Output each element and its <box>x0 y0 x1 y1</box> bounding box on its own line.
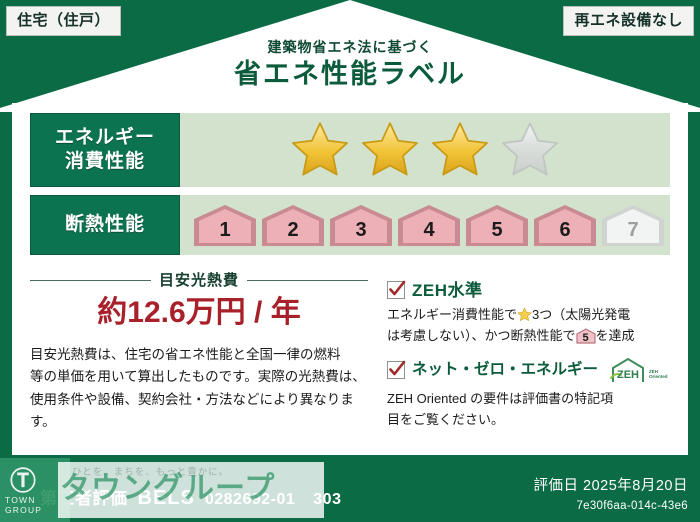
title-subtitle: 建築物省エネ法に基づく <box>0 40 700 54</box>
tag-building-type: 住宅（住戸） <box>6 6 121 36</box>
utility-cost-value: 約12.6万円 / 年 <box>30 298 368 328</box>
checkbox-net-zero-energy[interactable] <box>387 361 405 379</box>
star-filled-icon <box>359 120 421 180</box>
star-rating <box>180 113 670 187</box>
zeh-standard-desc-b: は考慮しない）、かつ断熱性能で <box>387 328 576 343</box>
title-main: 省エネ性能ラベル <box>0 61 700 88</box>
zeh-standard-head: ZEH水準 <box>387 281 677 299</box>
zeh-block: ZEH水準 エネルギー消費性能で3つ（太陽光発電は考慮しない）、かつ断熱性能で5… <box>387 281 677 441</box>
zeh-standard-desc-a: エネルギー消費性能で <box>387 307 517 322</box>
net-zero-energy-desc: ZEH Oriented の要件は評価書の特記項 目をご覧ください。 <box>387 388 677 430</box>
insulation-level-number: 5 <box>491 220 502 247</box>
row-energy-performance: エネルギー 消費性能 <box>30 113 670 187</box>
net-zero-energy-item: ネット・ゼロ・エネルギー ZEH ZEH Oriented <box>387 357 677 430</box>
footer-date-block: 評価日 2025年8月20日 7e30f6aa-014c-43e6 <box>534 474 688 512</box>
row-energy-label-line2: 消費性能 <box>65 150 145 174</box>
row-energy-label: エネルギー 消費性能 <box>30 113 180 187</box>
zeh-logo-caption: ZEH Oriented <box>649 369 668 383</box>
zeh-standard-desc-star-count: 3つ（太陽光発電 <box>532 307 630 322</box>
net-zero-energy-desc-line2: 目をご覧ください。 <box>387 409 677 430</box>
utility-cost-note: 目安光熱費は、住宅の省エネ性能と全国一律の燃料 等の単価を用いて算出したものです… <box>30 344 368 433</box>
star-empty-icon <box>499 120 561 180</box>
utility-cost-note-line1: 目安光熱費は、住宅の省エネ性能と全国一律の燃料 <box>30 344 368 366</box>
zeh-standard-title: ZEH水準 <box>412 282 483 299</box>
inline-house-icon: 5 <box>576 328 596 344</box>
insulation-level-number: 1 <box>219 220 230 247</box>
inline-star-icon <box>517 307 532 322</box>
utility-cost-heading: 目安光熱費 <box>30 273 368 288</box>
star-filled-icon <box>429 120 491 180</box>
zeh-logo-caption-line2: Oriented <box>649 374 668 379</box>
insulation-level-number: 6 <box>559 220 570 247</box>
insulation-level-number: 3 <box>355 220 366 247</box>
zeh-standard-desc: エネルギー消費性能で3つ（太陽光発電は考慮しない）、かつ断熱性能で5を達成 <box>387 304 677 346</box>
footer-evaluation-info: 第三者評価 BELS 0282692-01 303 <box>40 484 341 510</box>
row-energy-label-line1: エネルギー <box>55 126 155 150</box>
net-zero-energy-desc-line1: ZEH Oriented の要件は評価書の特記項 <box>387 388 677 409</box>
svg-text:ZEH: ZEH <box>617 369 639 381</box>
insulation-level-filled: 6 <box>532 203 598 247</box>
zeh-logo-caption-line1: ZEH <box>649 369 658 374</box>
footer-number: 0282692-01 <box>205 491 295 509</box>
inline-house-level: 5 <box>576 330 596 348</box>
checkbox-zeh-standard[interactable] <box>387 281 405 299</box>
zeh-standard-item: ZEH水準 エネルギー消費性能で3つ（太陽光発電は考慮しない）、かつ断熱性能で5… <box>387 281 677 346</box>
row-insulation-label: 断熱性能 <box>30 195 180 255</box>
star-filled-icon <box>289 120 351 180</box>
zeh-logo: ZEH ZEH Oriented <box>609 357 668 383</box>
zeh-standard-desc-c: を達成 <box>596 328 635 343</box>
utility-cost-heading-text: 目安光熱費 <box>159 273 239 288</box>
footer-eval-date: 評価日 2025年8月20日 <box>534 474 688 495</box>
energy-label-card: 住宅（住戸） 再エネ設備なし 建築物省エネ法に基づく 省エネ性能ラベル エネルギ… <box>0 0 700 522</box>
insulation-level-filled: 3 <box>328 203 394 247</box>
row-insulation-label-line1: 断熱性能 <box>65 213 145 237</box>
insulation-level-filled: 1 <box>192 203 258 247</box>
insulation-level-filled: 4 <box>396 203 462 247</box>
footer-number-secondary: 303 <box>313 491 341 509</box>
label-footer: 第三者評価 BELS 0282692-01 303 評価日 2025年8月20日… <box>0 462 700 522</box>
footer-third-party: 第三者評価 <box>40 484 128 509</box>
rule-right <box>247 280 368 281</box>
insulation-level-number: 7 <box>627 220 638 247</box>
label-title: 建築物省エネ法に基づく 省エネ性能ラベル <box>0 40 700 88</box>
utility-cost-block: 目安光熱費 約12.6万円 / 年 目安光熱費は、住宅の省エネ性能と全国一律の燃… <box>30 273 368 433</box>
insulation-level-number: 2 <box>287 220 298 247</box>
insulation-level-filled: 5 <box>464 203 530 247</box>
footer-uuid: 7e30f6aa-014c-43e6 <box>534 500 688 512</box>
net-zero-energy-head: ネット・ゼロ・エネルギー ZEH ZEH Oriented <box>387 357 677 383</box>
utility-cost-note-line3: 使用条件や設備、契約会社・方法などにより異なります。 <box>30 389 368 434</box>
rule-left <box>30 280 151 281</box>
insulation-level-empty: 7 <box>600 203 666 247</box>
insulation-grade-scale: 1234567 <box>180 195 670 255</box>
insulation-level-filled: 2 <box>260 203 326 247</box>
net-zero-energy-title: ネット・ゼロ・エネルギー <box>412 362 598 378</box>
insulation-level-number: 4 <box>423 220 434 247</box>
zeh-house-icon: ZEH <box>609 357 647 383</box>
label-body-panel: エネルギー 消費性能 断熱性能 1234567 目安光熱費 約12.6万円 / … <box>12 103 688 455</box>
tag-renewable-energy: 再エネ設備なし <box>563 6 694 36</box>
row-insulation-performance: 断熱性能 1234567 <box>30 195 670 255</box>
utility-cost-note-line2: 等の単価を用いて算出したものです。実際の光熱費は、 <box>30 366 368 388</box>
footer-bels: BELS <box>138 487 195 510</box>
